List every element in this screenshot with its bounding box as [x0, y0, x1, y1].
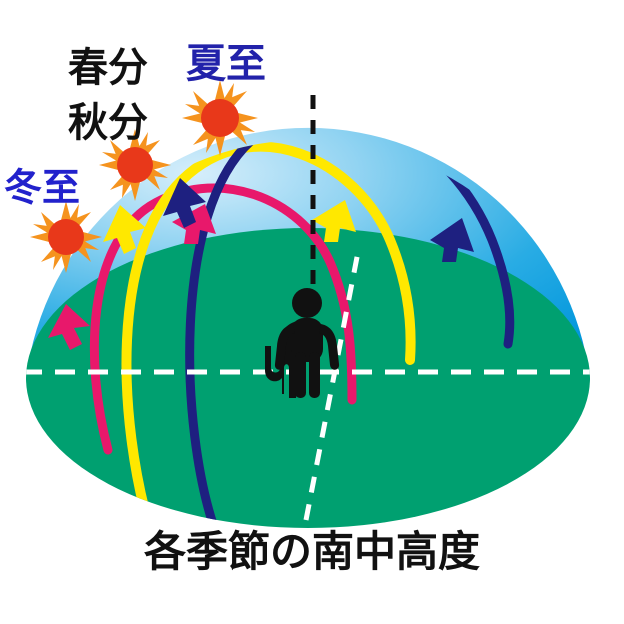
diagram-title: 各季節の南中高度 — [144, 527, 480, 576]
label-autumn-equinox: 秋分 — [68, 100, 148, 146]
label-spring-equinox: 春分 — [68, 45, 148, 91]
diagram-canvas: 春分 秋分 夏至 冬至 各季節の南中高度 — [0, 0, 624, 624]
seasonal-solar-altitude-diagram: 春分 秋分 夏至 冬至 各季節の南中高度 — [0, 0, 624, 624]
label-summer-solstice: 夏至 — [186, 41, 266, 87]
sun-icon-summer-solstice — [182, 80, 258, 156]
label-winter-solstice: 冬至 — [4, 166, 80, 210]
